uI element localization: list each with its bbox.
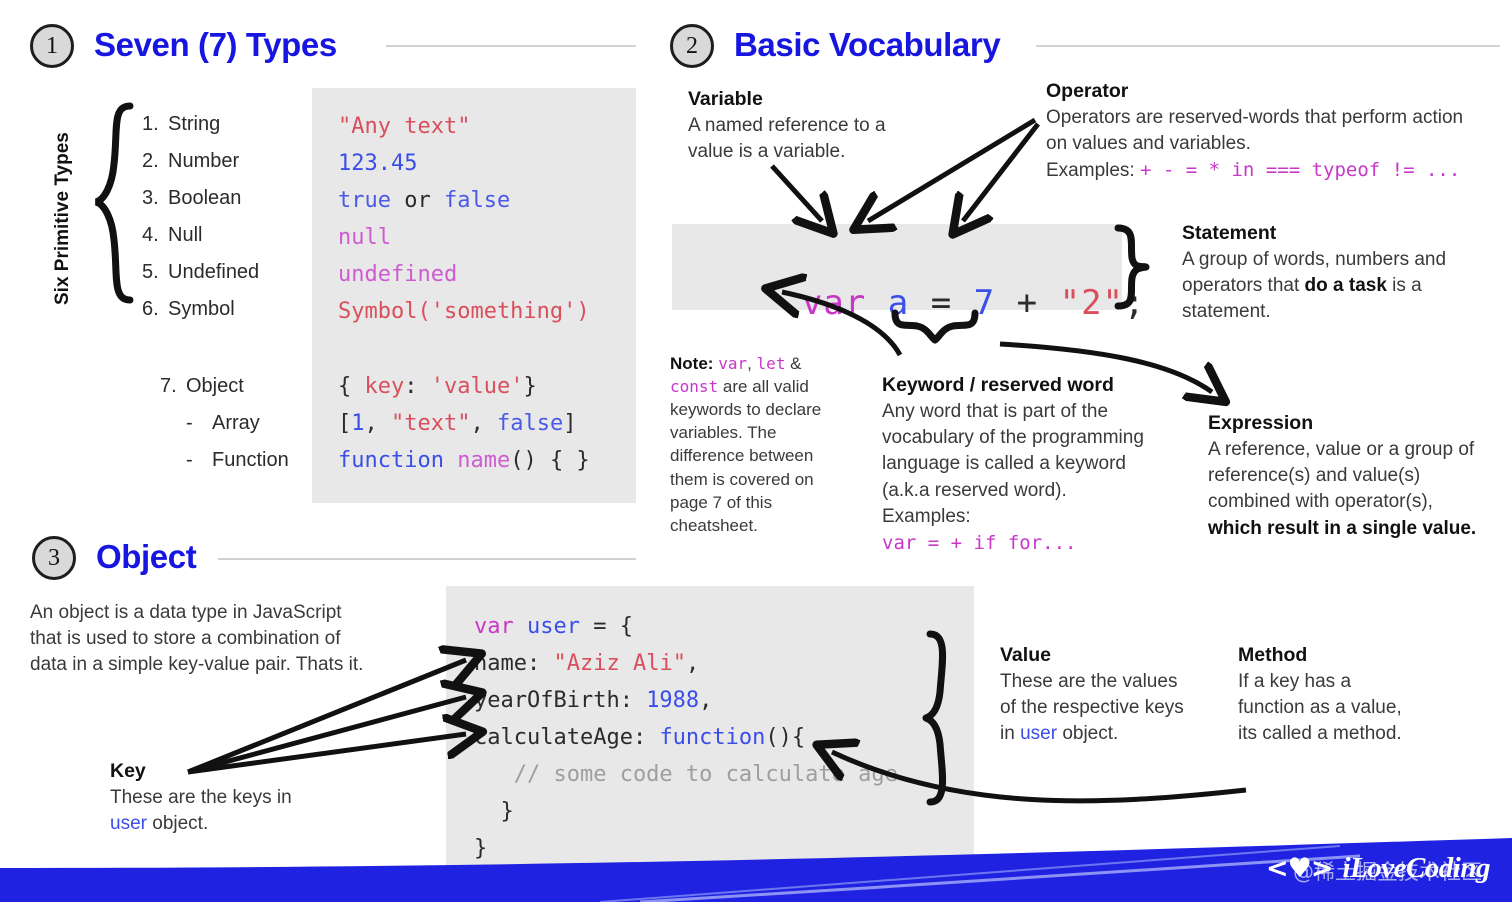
method-note: Method If a key has a function as a valu… bbox=[1238, 642, 1418, 748]
list-index: 3. bbox=[142, 180, 168, 217]
variable-note: Variable A named reference to a value is… bbox=[688, 86, 918, 165]
key-note: Key These are the keys in user object. bbox=[110, 758, 300, 837]
primitive-types-brace bbox=[96, 106, 130, 300]
value-body: These are the values of the respective k… bbox=[1000, 669, 1186, 748]
section-2-number: 2 bbox=[686, 33, 698, 60]
section-3-title: Object bbox=[96, 538, 196, 576]
list-label: Undefined bbox=[168, 261, 259, 283]
list-item: -Function bbox=[160, 442, 289, 479]
list-index: 5. bbox=[142, 254, 168, 291]
code-line-string: "Any text" bbox=[338, 108, 590, 145]
object-description: An object is a data type in JavaScript t… bbox=[30, 600, 370, 679]
expression-body: A reference, value or a group of referen… bbox=[1208, 437, 1488, 542]
section-1-title: Seven (7) Types bbox=[94, 26, 337, 64]
list-label: String bbox=[168, 113, 220, 135]
operator-examples-label: Examples: bbox=[1046, 160, 1135, 181]
list-item: 4.Null bbox=[142, 217, 259, 254]
list-index: 4. bbox=[142, 217, 168, 254]
section-1-number-badge: 1 bbox=[30, 24, 74, 68]
cheatsheet-page: 1 Seven (7) Types Six Primitive Types 1.… bbox=[0, 0, 1512, 902]
note-keyword-const: const bbox=[670, 377, 718, 396]
operator-examples-row: Examples: + - = * in === typeof != ... bbox=[1046, 157, 1466, 184]
section-1-rule bbox=[386, 45, 636, 47]
primitive-types-list: 1.String 2.Number 3.Boolean 4.Null 5.Und… bbox=[142, 106, 259, 328]
list-label: Symbol bbox=[168, 298, 235, 320]
six-primitive-types-label: Six Primitive Types bbox=[52, 132, 74, 305]
variable-body: A named reference to a value is a variab… bbox=[688, 113, 918, 165]
keyword-heading: Keyword / reserved word bbox=[882, 372, 1162, 399]
code-line-undefined: undefined bbox=[338, 256, 590, 293]
object-code-lines: { key: 'value'} [1, "text", false] funct… bbox=[338, 368, 590, 479]
statement-heading: Statement bbox=[1182, 220, 1482, 247]
list-label: Boolean bbox=[168, 187, 241, 209]
keyword-body: Any word that is part of the vocabulary … bbox=[882, 399, 1162, 504]
list-label: Number bbox=[168, 150, 239, 172]
section-2-rule bbox=[1036, 45, 1500, 47]
list-item: 6.Symbol bbox=[142, 291, 259, 328]
expression-heading: Expression bbox=[1208, 410, 1488, 437]
list-label: Function bbox=[212, 449, 289, 471]
code-line-boolean: true or false bbox=[338, 182, 590, 219]
list-item: 3.Boolean bbox=[142, 180, 259, 217]
list-index: 2. bbox=[142, 143, 168, 180]
value-note: Value These are the values of the respec… bbox=[1000, 642, 1186, 748]
statement-note: Statement A group of words, numbers and … bbox=[1182, 220, 1482, 326]
list-index: 1. bbox=[142, 106, 168, 143]
code-line-close-fn: } bbox=[474, 793, 898, 830]
code-line-yearofbirth: yearOfBirth: 1988, bbox=[474, 682, 898, 719]
expression-body-bold: which result in a single value. bbox=[1208, 518, 1476, 539]
list-index: - bbox=[186, 442, 212, 479]
keyword-examples-label: Examples: bbox=[882, 506, 971, 527]
list-label: Null bbox=[168, 224, 202, 246]
list-label: Array bbox=[212, 412, 260, 434]
key-body: These are the keys in user object. bbox=[110, 785, 300, 837]
code-line-array: [1, "text", false] bbox=[338, 405, 590, 442]
code-line-name: name: "Aziz Ali", bbox=[474, 645, 898, 682]
code-line-var-user: var user = { bbox=[474, 608, 898, 645]
section-2-title: Basic Vocabulary bbox=[734, 26, 1000, 64]
section-3-number: 3 bbox=[48, 545, 60, 572]
code-line-number: 123.45 bbox=[338, 145, 590, 182]
operator-heading: Operator bbox=[1046, 78, 1466, 105]
key-body-pre: These are the keys in bbox=[110, 787, 292, 808]
code-line-object: { key: 'value'} bbox=[338, 368, 590, 405]
note-keyword-let: let bbox=[757, 354, 786, 373]
key-body-post: object. bbox=[147, 813, 208, 834]
section-2-number-badge: 2 bbox=[670, 24, 714, 68]
section-1-number: 1 bbox=[46, 33, 58, 60]
value-body-code: user bbox=[1020, 723, 1057, 744]
code-line-null: null bbox=[338, 219, 590, 256]
list-item: 2.Number bbox=[142, 143, 259, 180]
statement-body: A group of words, numbers and operators … bbox=[1182, 247, 1482, 326]
value-body-post: object. bbox=[1057, 723, 1118, 744]
arrow-variable-to-identifier bbox=[772, 166, 822, 221]
section-3-number-badge: 3 bbox=[32, 536, 76, 580]
code-line-symbol: Symbol('something') bbox=[338, 293, 590, 330]
note-keyword-var: var bbox=[718, 354, 747, 373]
note-block: Note: var, let & const are all valid key… bbox=[670, 352, 828, 537]
code-line-calculateage: calculateAge: function(){ bbox=[474, 719, 898, 756]
expression-note: Expression A reference, value or a group… bbox=[1208, 410, 1488, 542]
note-label: Note: bbox=[670, 354, 713, 373]
section-3-rule bbox=[218, 558, 636, 560]
list-item: 1.String bbox=[142, 106, 259, 143]
operator-examples: + - = * in === typeof != ... bbox=[1140, 159, 1460, 181]
code-line-comment: // some code to calculate age bbox=[474, 756, 898, 793]
key-heading: Key bbox=[110, 758, 300, 785]
method-heading: Method bbox=[1238, 642, 1418, 669]
list-item: -Array bbox=[160, 405, 289, 442]
expression-body-pre: A reference, value or a group of referen… bbox=[1208, 439, 1474, 512]
list-label: Object bbox=[186, 375, 244, 397]
operator-note: Operator Operators are reserved-words th… bbox=[1046, 78, 1466, 185]
list-item: 5.Undefined bbox=[142, 254, 259, 291]
keyword-examples: var = + if for... bbox=[882, 532, 1076, 554]
list-index: - bbox=[186, 405, 212, 442]
code-line-function: function name() { } bbox=[338, 442, 590, 479]
object-types-list: 7.Object -Array -Function bbox=[160, 368, 289, 479]
variable-heading: Variable bbox=[688, 86, 918, 113]
list-index: 6. bbox=[142, 291, 168, 328]
list-index: 7. bbox=[160, 368, 186, 405]
value-heading: Value bbox=[1000, 642, 1186, 669]
key-body-code: user bbox=[110, 813, 147, 834]
note-body: are all valid keywords to declare variab… bbox=[670, 377, 821, 535]
arrow-operator-to-plus bbox=[963, 124, 1038, 221]
object-code: var user = { name: "Aziz Ali", yearOfBir… bbox=[474, 608, 898, 867]
site-watermark: @稀土掘金技术社区 bbox=[1293, 856, 1482, 886]
vocabulary-code-line: var a = 7 + "2"; bbox=[716, 243, 1146, 363]
method-body: If a key has a function as a value, its … bbox=[1238, 669, 1418, 748]
statement-body-bold: do a task bbox=[1305, 275, 1387, 296]
list-item: 7.Object bbox=[160, 368, 289, 405]
keyword-examples-row: Examples: var = + if for... bbox=[882, 504, 1162, 557]
types-code-lines: "Any text" 123.45 true or false null und… bbox=[338, 108, 590, 330]
operator-body: Operators are reserved-words that perfor… bbox=[1046, 105, 1466, 157]
keyword-note: Keyword / reserved word Any word that is… bbox=[882, 372, 1162, 557]
